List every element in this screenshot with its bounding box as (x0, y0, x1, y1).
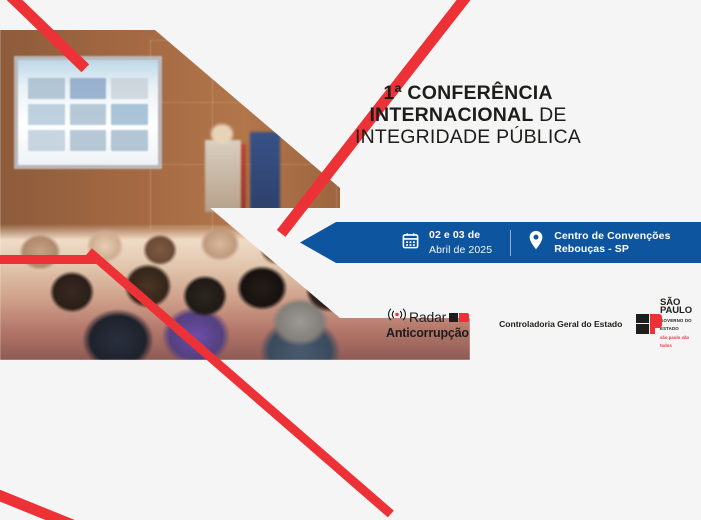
radar-signal-icon (386, 308, 408, 326)
title-line-2-bold: INTERNACIONAL (369, 104, 533, 126)
event-date-line-1: 02 e 03 de (429, 229, 492, 242)
title-line-1: 1ª CONFERÊNCIA (318, 82, 618, 104)
event-date-block: 02 e 03 de Abril de 2025 (401, 229, 492, 257)
logo-row: Radar Anticorrupção Controladoria Geral … (386, 304, 698, 344)
radar-logo-top: Radar (386, 308, 469, 326)
location-pin-icon (527, 230, 545, 255)
sp-line-3: são paulo são todos (660, 334, 699, 350)
cge-logo-text: Controladoria Geral do Estado (499, 319, 622, 329)
red-stripe-horizontal (0, 255, 100, 264)
radar-squares-icon (449, 313, 469, 322)
speaker-podium (205, 140, 241, 212)
event-venue-block: Centro de Convenções Rebouças - SP (527, 230, 670, 256)
sao-paulo-government-logo: SÃO PAULO GOVERNO DO ESTADO são paulo sã… (636, 299, 699, 350)
title-line-2: INTERNACIONAL DE (318, 104, 618, 126)
sp-line-2: GOVERNO DO ESTADO (660, 317, 699, 333)
blue-flag (250, 132, 280, 218)
projection-screen (18, 60, 158, 165)
radar-word: Radar (409, 310, 446, 324)
sp-mark-icon (636, 314, 655, 334)
event-info-bar: 02 e 03 de Abril de 2025 Centro de Conve… (300, 222, 701, 263)
sp-logo-text: SÃO PAULO GOVERNO DO ESTADO são paulo sã… (660, 299, 699, 350)
radar-anticorrupcao-logo: Radar Anticorrupção (386, 308, 469, 340)
info-divider (510, 230, 511, 256)
conference-poster: 1ª CONFERÊNCIA INTERNACIONAL DE INTEGRID… (0, 0, 701, 520)
page-title: 1ª CONFERÊNCIA INTERNACIONAL DE INTEGRID… (318, 82, 618, 148)
title-line-3: INTEGRIDADE PÚBLICA (318, 126, 618, 148)
red-stripe-bottom (0, 490, 390, 520)
event-date-line-2: Abril de 2025 (429, 244, 492, 257)
event-date-text: 02 e 03 de Abril de 2025 (429, 229, 492, 257)
sp-name: SÃO PAULO (660, 299, 699, 315)
calendar-icon (401, 231, 420, 255)
event-venue-line-1: Centro de Convenções (554, 230, 670, 243)
event-venue-line-2: Rebouças - SP (554, 243, 670, 256)
slide-thumbnails (28, 78, 148, 151)
event-venue-text: Centro de Convenções Rebouças - SP (554, 230, 670, 256)
radar-subtitle: Anticorrupção (386, 327, 469, 340)
title-line-2-rest: DE (533, 104, 566, 126)
